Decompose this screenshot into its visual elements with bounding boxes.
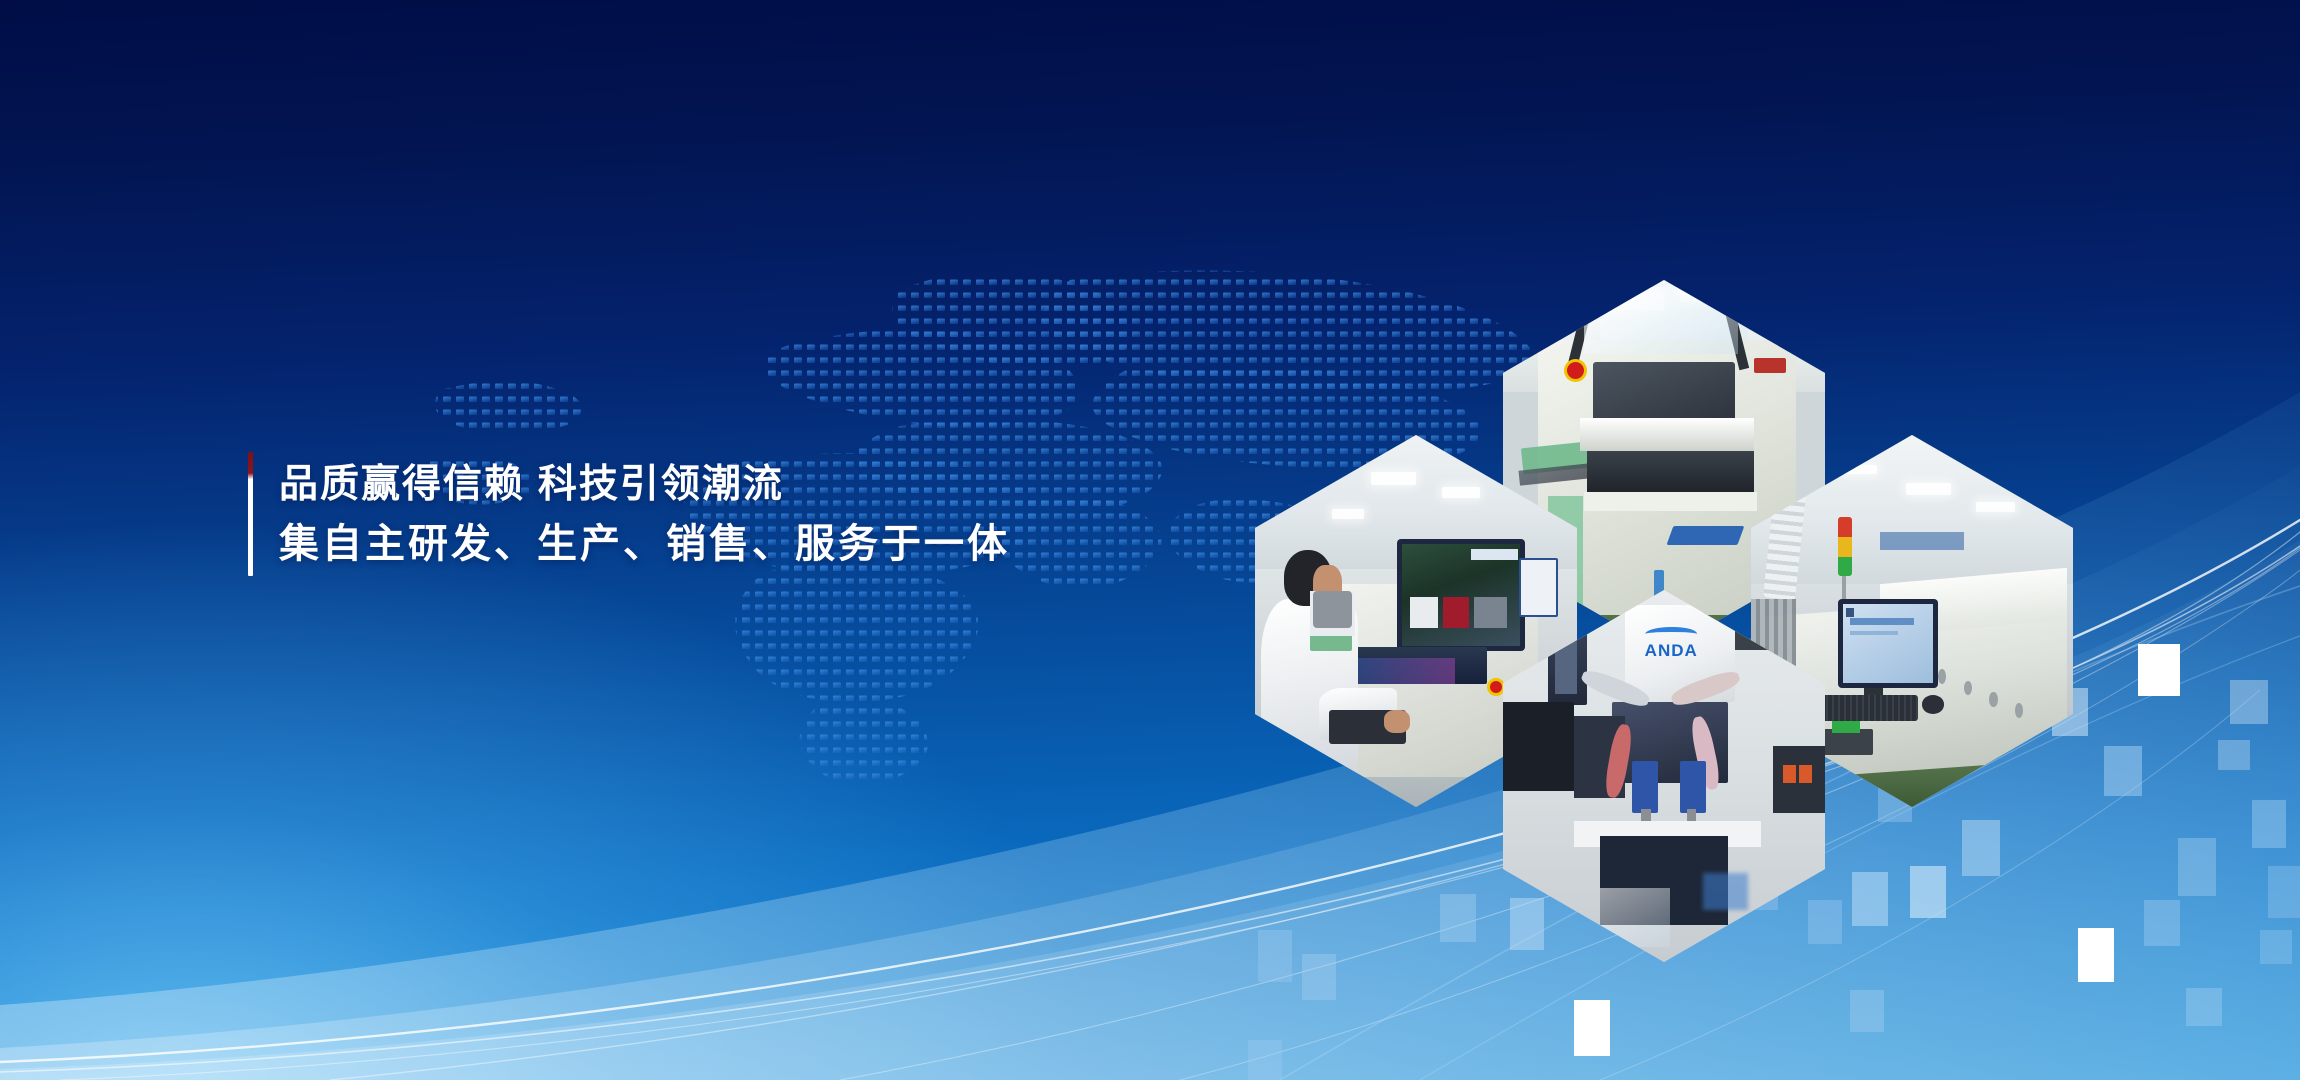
square bbox=[1962, 820, 2000, 876]
square bbox=[2230, 680, 2268, 724]
square bbox=[1248, 1040, 1282, 1080]
square bbox=[1910, 866, 1946, 918]
square bbox=[2252, 800, 2286, 848]
square bbox=[2260, 930, 2292, 964]
square bbox=[1302, 954, 1336, 1000]
square bbox=[2218, 740, 2250, 770]
hexagon-photo-cluster: ANDA bbox=[1255, 280, 2115, 780]
square bbox=[2144, 900, 2180, 946]
accent-bar bbox=[248, 452, 253, 576]
headline-line-1: 品质赢得信赖 科技引领潮流 bbox=[279, 465, 1010, 504]
hero-banner: 品质赢得信赖 科技引领潮流 集自主研发、生产、销售、服务于一体 bbox=[0, 0, 2300, 1080]
square bbox=[1850, 990, 1884, 1032]
square bbox=[2268, 866, 2300, 918]
square bbox=[1510, 898, 1544, 950]
square bbox=[2138, 644, 2180, 696]
stack-light-icon bbox=[1838, 517, 1852, 577]
square bbox=[2178, 838, 2216, 896]
anda-brand-logo: ANDA bbox=[1645, 627, 1698, 661]
square bbox=[2186, 988, 2222, 1026]
square bbox=[2078, 928, 2114, 982]
headline-block: 品质赢得信赖 科技引领潮流 集自主研发、生产、销售、服务于一体 bbox=[248, 452, 1010, 576]
headline-line-2: 集自主研发、生产、销售、服务于一体 bbox=[279, 524, 1010, 564]
square bbox=[1574, 1000, 1610, 1056]
anda-brand-text: ANDA bbox=[1645, 641, 1698, 660]
square bbox=[1808, 900, 1842, 944]
square bbox=[1852, 872, 1888, 926]
square bbox=[1440, 894, 1476, 942]
square bbox=[1258, 930, 1292, 982]
